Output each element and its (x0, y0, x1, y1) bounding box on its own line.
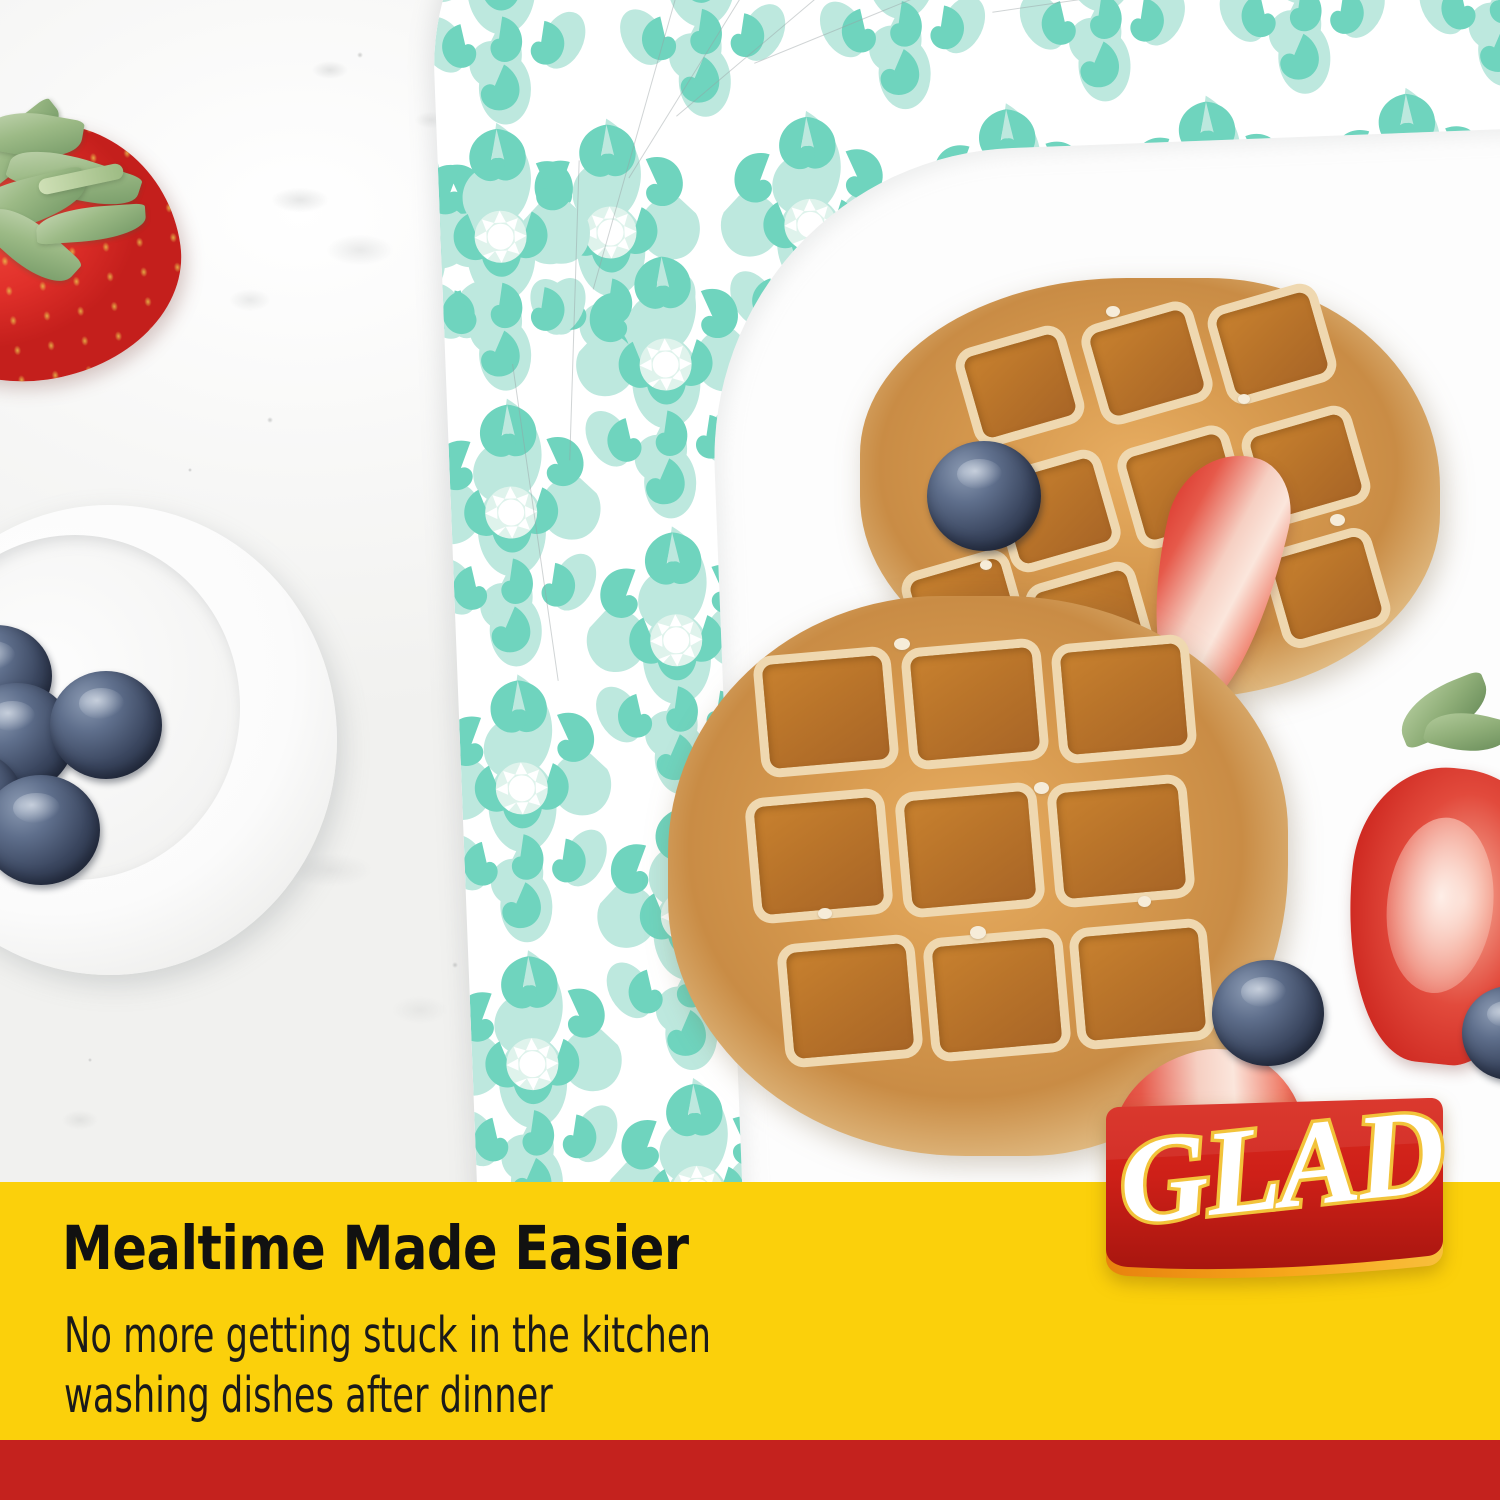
blueberry (50, 671, 162, 779)
product-lifestyle-photo (0, 0, 1500, 1182)
blueberry-right (1212, 960, 1324, 1066)
pearl-sugar (818, 908, 832, 919)
pearl-sugar (894, 638, 910, 650)
footer-band (0, 1440, 1500, 1500)
waffle-pocket (904, 791, 1037, 909)
headline: Mealtime Made Easier (62, 1213, 689, 1284)
subheadline: No more getting stuck in the kitchen was… (64, 1306, 711, 1426)
glad-logo: GLAD ® (1098, 1098, 1448, 1283)
glad-logo-svg: GLAD ® (1098, 1098, 1448, 1283)
waffle-pocket (1078, 927, 1207, 1041)
pearl-sugar (1034, 782, 1049, 794)
waffle-pocket (1056, 783, 1187, 899)
waffle-pocket (762, 655, 891, 769)
waffle-pocket (1060, 643, 1188, 755)
strawberry-core (1378, 812, 1500, 998)
waffle-pocket (910, 647, 1041, 761)
pearl-sugar (1106, 306, 1120, 317)
waffle-pocket (932, 937, 1063, 1053)
waffle-pocket (786, 943, 915, 1059)
registered-trademark-icon: ® (1420, 1117, 1431, 1134)
waffle-pocket (754, 797, 885, 915)
strawberry-whole (0, 105, 220, 395)
blueberry-on-waffle (927, 441, 1041, 551)
pearl-sugar (1238, 394, 1250, 404)
pearl-sugar (980, 560, 992, 570)
pearl-sugar (970, 926, 986, 939)
pearl-sugar (1138, 896, 1151, 907)
ad-creative: Mealtime Made Easier No more getting stu… (0, 0, 1500, 1500)
pearl-sugar (1330, 514, 1345, 526)
